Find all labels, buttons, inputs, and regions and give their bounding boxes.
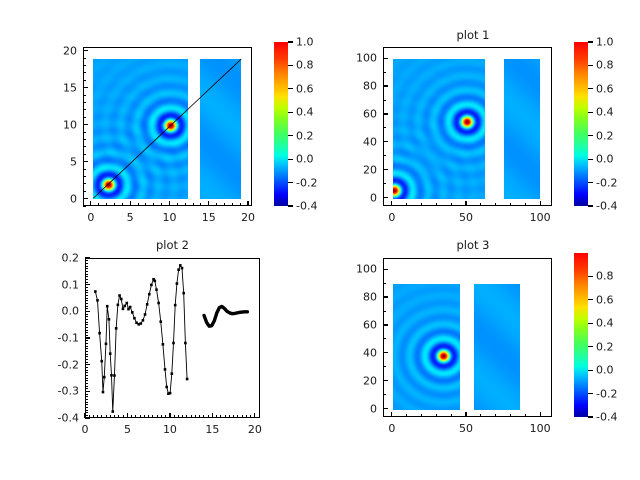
x-minor-tick-mark xyxy=(421,414,422,417)
x-minor-tick-mark xyxy=(93,415,94,418)
y-minor-tick-mark xyxy=(85,300,88,301)
colorbar-tick-label: 0.2 xyxy=(596,129,614,142)
x-tick-label: 0 xyxy=(388,211,395,224)
y-minor-tick-mark xyxy=(85,295,88,296)
y-tick-label: 0.0 xyxy=(37,305,79,318)
y-minor-tick-mark xyxy=(85,306,88,307)
colorbar-tick-label: -0.4 xyxy=(296,200,317,213)
x-minor-tick-mark xyxy=(212,415,213,418)
y-minor-tick-mark xyxy=(85,282,88,283)
x-minor-tick-mark xyxy=(185,203,186,206)
y-tick-label: 80 xyxy=(335,80,377,93)
y-minor-tick-mark xyxy=(85,324,88,325)
y-tick-label: 0.2 xyxy=(37,252,79,265)
image-patch-right xyxy=(474,284,520,410)
x-minor-tick-mark xyxy=(89,415,90,418)
data-point-marker xyxy=(109,352,112,355)
x-minor-tick-mark xyxy=(220,415,221,418)
colorbar-tick-label: 0.6 xyxy=(596,293,614,306)
y-minor-tick-mark xyxy=(83,169,86,170)
x-minor-tick-mark xyxy=(391,414,392,417)
colorbar-tick-label: 0.0 xyxy=(596,153,614,166)
x-minor-tick-mark xyxy=(250,415,251,418)
y-minor-tick-mark xyxy=(85,258,88,259)
x-minor-tick-mark xyxy=(246,415,247,418)
y-minor-tick-mark xyxy=(83,58,86,59)
y-tick-label: 20 xyxy=(335,163,377,176)
x-minor-tick-mark xyxy=(203,415,204,418)
colorbar-tick-mark xyxy=(588,346,593,347)
x-minor-tick-mark xyxy=(97,415,98,418)
y-tick-label: 60 xyxy=(335,318,377,331)
data-point-marker xyxy=(148,293,151,296)
colorbar-tick-label: 1.0 xyxy=(596,36,614,49)
x-minor-tick-mark xyxy=(451,414,452,417)
x-minor-tick-mark xyxy=(254,415,255,418)
data-point-marker xyxy=(139,322,142,325)
x-minor-tick-mark xyxy=(169,203,170,206)
x-minor-tick-mark xyxy=(195,415,196,418)
colorbar-tick-mark xyxy=(588,135,593,136)
colorbar-tick-label: 0.2 xyxy=(596,340,614,353)
data-point-marker xyxy=(100,360,103,363)
y-tick-label: 0 xyxy=(335,402,377,415)
x-minor-tick-mark xyxy=(259,415,260,418)
y-tick-label: 20 xyxy=(335,374,377,387)
y-tick-label: 100 xyxy=(335,263,377,276)
x-minor-tick-mark xyxy=(191,415,192,418)
y-minor-tick-mark xyxy=(85,266,88,267)
colorbar-tick-mark xyxy=(588,323,593,324)
x-minor-tick-mark xyxy=(148,415,149,418)
panel-bottom-left-title: plot 2 xyxy=(85,238,260,252)
y-minor-tick-mark xyxy=(85,404,88,405)
y-minor-tick-mark xyxy=(85,268,88,269)
data-point-marker xyxy=(165,386,168,389)
data-point-marker xyxy=(157,302,160,305)
colorbar-tick-label: -0.2 xyxy=(296,176,317,189)
y-minor-tick-mark xyxy=(383,72,386,73)
data-point-marker xyxy=(131,311,134,314)
colorbar-tick-mark xyxy=(588,112,593,113)
y-minor-tick-mark xyxy=(85,279,88,280)
colorbar-tick-label: -0.4 xyxy=(596,200,617,213)
colorbar-tick-label: 1.0 xyxy=(296,36,314,49)
y-minor-tick-mark xyxy=(85,340,88,341)
y-minor-tick-mark xyxy=(85,335,88,336)
y-minor-tick-mark xyxy=(85,284,88,285)
figure-canvas: 0510152005101520 1.00.80.60.40.20.0-0.2-… xyxy=(0,0,640,480)
y-minor-tick-mark xyxy=(85,290,88,291)
x-minor-tick-mark xyxy=(510,203,511,206)
data-point-marker xyxy=(113,374,116,377)
colorbar-tick-label: 0.4 xyxy=(596,317,614,330)
x-minor-tick-mark xyxy=(224,203,225,206)
colorbar-tick-mark xyxy=(588,65,593,66)
x-minor-tick-mark xyxy=(145,203,146,206)
x-minor-tick-mark xyxy=(122,203,123,206)
y-minor-tick-mark xyxy=(85,327,88,328)
y-minor-tick-mark xyxy=(83,146,86,147)
colorbar-tick-mark xyxy=(588,182,593,183)
x-tick-label: 0 xyxy=(87,211,94,224)
x-minor-tick-mark xyxy=(90,203,91,206)
y-minor-tick-mark xyxy=(85,380,88,381)
x-minor-tick-mark xyxy=(106,203,107,206)
y-minor-tick-mark xyxy=(85,399,88,400)
colorbar-tick-label: -0.4 xyxy=(596,411,617,424)
colorbar-tick-mark xyxy=(588,370,593,371)
y-tick-label: 80 xyxy=(335,291,377,304)
colorbar-tick-mark xyxy=(588,416,593,417)
data-point-marker xyxy=(110,374,113,377)
x-minor-tick-mark xyxy=(186,415,187,418)
y-minor-tick-mark xyxy=(383,366,386,367)
x-minor-tick-mark xyxy=(495,203,496,206)
x-minor-tick-mark xyxy=(85,415,86,418)
x-minor-tick-mark xyxy=(540,414,541,417)
y-minor-tick-mark xyxy=(383,58,386,59)
y-minor-tick-mark xyxy=(383,183,386,184)
y-minor-tick-mark xyxy=(383,283,386,284)
colorbar-tick-label: 0.0 xyxy=(296,153,314,166)
y-minor-tick-mark xyxy=(85,391,88,392)
x-minor-tick-mark xyxy=(123,415,124,418)
x-minor-tick-mark xyxy=(216,415,217,418)
x-minor-tick-mark xyxy=(208,203,209,206)
colorbar-top-right xyxy=(574,42,588,206)
y-minor-tick-mark xyxy=(83,124,86,125)
y-minor-tick-mark xyxy=(83,87,86,88)
colorbar-tick-mark xyxy=(588,88,593,89)
y-minor-tick-mark xyxy=(85,274,88,275)
data-point-marker xyxy=(123,305,126,308)
y-minor-tick-mark xyxy=(83,50,86,51)
data-point-marker xyxy=(120,298,123,301)
x-minor-tick-mark xyxy=(152,415,153,418)
y-tick-label: 60 xyxy=(335,107,377,120)
y-minor-tick-mark xyxy=(83,139,86,140)
y-minor-tick-mark xyxy=(85,351,88,352)
colorbar-tick-mark xyxy=(288,182,293,183)
x-minor-tick-mark xyxy=(406,414,407,417)
y-minor-tick-mark xyxy=(83,132,86,133)
x-tick-label: 100 xyxy=(530,422,551,435)
data-point-marker xyxy=(181,267,184,270)
data-point-marker xyxy=(117,304,120,307)
data-point-marker xyxy=(150,284,153,287)
y-minor-tick-mark xyxy=(83,191,86,192)
y-tick-label: 100 xyxy=(335,52,377,65)
y-minor-tick-mark xyxy=(85,407,88,408)
y-minor-tick-mark xyxy=(83,109,86,110)
y-minor-tick-mark xyxy=(85,396,88,397)
y-minor-tick-mark xyxy=(85,394,88,395)
data-point-marker xyxy=(172,342,175,345)
data-point-marker xyxy=(171,372,174,375)
axes-top-right[interactable] xyxy=(383,47,552,206)
y-minor-tick-mark xyxy=(85,271,88,272)
y-minor-tick-mark xyxy=(83,102,86,103)
x-minor-tick-mark xyxy=(480,414,481,417)
colorbar-tick-label: 0.6 xyxy=(296,82,314,95)
y-minor-tick-mark xyxy=(383,338,386,339)
y-minor-tick-mark xyxy=(85,370,88,371)
colorbar-tick-mark xyxy=(588,205,593,206)
data-point-marker xyxy=(176,282,179,285)
x-minor-tick-mark xyxy=(242,415,243,418)
data-point-marker xyxy=(115,327,118,330)
y-minor-tick-mark xyxy=(83,80,86,81)
y-minor-tick-mark xyxy=(85,346,88,347)
y-minor-tick-mark xyxy=(85,322,88,323)
y-minor-tick-mark xyxy=(85,367,88,368)
y-tick-label: 40 xyxy=(335,135,377,148)
data-point-marker xyxy=(133,317,136,320)
image-patch-left xyxy=(393,284,460,410)
data-point-marker xyxy=(125,302,128,305)
colorbar-tick-mark xyxy=(588,299,593,300)
colorbar-tick-label: 0.8 xyxy=(596,59,614,72)
y-tick-label: -0.2 xyxy=(37,358,79,371)
y-minor-tick-mark xyxy=(83,154,86,155)
axes-bottom-left[interactable] xyxy=(85,258,260,418)
y-minor-tick-mark xyxy=(85,276,88,277)
y-minor-tick-mark xyxy=(83,65,86,66)
x-minor-tick-mark xyxy=(83,203,84,206)
y-minor-tick-mark xyxy=(383,169,386,170)
y-minor-tick-mark xyxy=(85,298,88,299)
colorbar-bottom-right xyxy=(574,253,588,417)
y-minor-tick-mark xyxy=(85,348,88,349)
colorbar-tick-mark xyxy=(288,88,293,89)
x-minor-tick-mark xyxy=(161,203,162,206)
y-minor-tick-mark xyxy=(383,141,386,142)
y-tick-label: 0 xyxy=(335,191,377,204)
data-point-marker xyxy=(162,343,165,346)
x-tick-label: 0 xyxy=(82,423,89,436)
y-tick-label: 5 xyxy=(35,155,77,168)
x-minor-tick-mark xyxy=(131,415,132,418)
data-point-marker xyxy=(159,320,162,323)
data-point-marker xyxy=(122,308,125,311)
x-minor-tick-mark xyxy=(174,415,175,418)
y-minor-tick-mark xyxy=(85,314,88,315)
y-minor-tick-mark xyxy=(85,287,88,288)
x-minor-tick-mark xyxy=(165,415,166,418)
y-minor-tick-mark xyxy=(85,303,88,304)
y-minor-tick-mark xyxy=(383,408,386,409)
x-minor-tick-mark xyxy=(495,414,496,417)
y-minor-tick-mark xyxy=(383,100,386,101)
x-minor-tick-mark xyxy=(525,414,526,417)
colorbar-tick-label: 0.4 xyxy=(596,106,614,119)
x-minor-tick-mark xyxy=(193,203,194,206)
y-minor-tick-mark xyxy=(383,155,386,156)
colorbar-tick-mark xyxy=(288,41,293,42)
y-minor-tick-mark xyxy=(85,316,88,317)
y-minor-tick-mark xyxy=(85,386,88,387)
y-minor-tick-mark xyxy=(383,380,386,381)
data-point-marker xyxy=(155,288,158,291)
x-minor-tick-mark xyxy=(130,203,131,206)
data-point-marker xyxy=(106,305,109,308)
y-minor-tick-mark xyxy=(85,292,88,293)
colorbar-tick-mark xyxy=(588,393,593,394)
x-minor-tick-mark xyxy=(406,203,407,206)
x-tick-label: 50 xyxy=(459,422,473,435)
x-tick-label: 5 xyxy=(127,211,134,224)
x-minor-tick-mark xyxy=(466,414,467,417)
y-minor-tick-mark xyxy=(83,72,86,73)
colorbar-tick-label: -0.2 xyxy=(596,176,617,189)
diagonal-overlay-line xyxy=(84,48,252,206)
y-minor-tick-mark xyxy=(83,161,86,162)
colorbar-tick-mark xyxy=(588,276,593,277)
y-minor-tick-mark xyxy=(383,311,386,312)
y-tick-label: 0 xyxy=(35,192,77,205)
image-patch-right xyxy=(504,59,540,199)
colorbar-tick-mark xyxy=(288,112,293,113)
data-point-marker xyxy=(105,343,108,346)
data-point-marker xyxy=(144,313,147,316)
y-minor-tick-mark xyxy=(85,319,88,320)
x-minor-tick-mark xyxy=(240,203,241,206)
x-minor-tick-mark xyxy=(237,415,238,418)
x-minor-tick-mark xyxy=(161,415,162,418)
x-minor-tick-mark xyxy=(229,415,230,418)
data-point-marker xyxy=(169,392,172,395)
x-minor-tick-mark xyxy=(153,203,154,206)
y-minor-tick-mark xyxy=(383,127,386,128)
x-minor-tick-mark xyxy=(106,415,107,418)
data-point-marker xyxy=(177,268,180,271)
image-patch-left xyxy=(393,59,485,199)
data-point-marker xyxy=(184,342,187,345)
data-point-marker xyxy=(96,299,99,302)
y-minor-tick-mark xyxy=(383,297,386,298)
line-chart-series xyxy=(86,259,260,418)
x-minor-tick-mark xyxy=(135,415,136,418)
y-minor-tick-mark xyxy=(383,197,386,198)
colorbar-top-left xyxy=(274,42,288,206)
y-tick-label: -0.1 xyxy=(37,332,79,345)
colorbar-tick-mark xyxy=(588,41,593,42)
colorbar-tick-label: 0.8 xyxy=(596,270,614,283)
y-tick-label: -0.3 xyxy=(37,385,79,398)
x-minor-tick-mark xyxy=(157,415,158,418)
panel-bottom-right-title: plot 3 xyxy=(383,238,563,252)
x-minor-tick-mark xyxy=(98,203,99,206)
series-segment-1 xyxy=(94,264,188,413)
x-minor-tick-mark xyxy=(178,415,179,418)
y-tick-label: 10 xyxy=(35,118,77,131)
x-tick-label: 50 xyxy=(459,211,473,224)
data-point-marker xyxy=(154,280,157,283)
x-minor-tick-mark xyxy=(140,415,141,418)
y-minor-tick-mark xyxy=(83,198,86,199)
y-tick-label: 0.1 xyxy=(37,278,79,291)
x-minor-tick-mark xyxy=(138,203,139,206)
colorbar-tick-mark xyxy=(588,159,593,160)
x-tick-label: 10 xyxy=(163,423,177,436)
y-minor-tick-mark xyxy=(85,402,88,403)
y-minor-tick-mark xyxy=(85,364,88,365)
data-point-marker xyxy=(103,376,106,379)
x-tick-label: 15 xyxy=(205,423,219,436)
axes-bottom-right[interactable] xyxy=(383,258,552,417)
y-minor-tick-mark xyxy=(83,95,86,96)
x-minor-tick-mark xyxy=(232,203,233,206)
data-point-marker xyxy=(146,303,149,306)
x-minor-tick-mark xyxy=(540,203,541,206)
data-point-marker xyxy=(94,290,97,293)
x-tick-label: 20 xyxy=(241,211,255,224)
x-tick-label: 15 xyxy=(202,211,216,224)
y-minor-tick-mark xyxy=(383,86,386,87)
y-minor-tick-mark xyxy=(383,352,386,353)
y-minor-tick-mark xyxy=(383,113,386,114)
colorbar-tick-mark xyxy=(288,135,293,136)
y-minor-tick-mark xyxy=(85,343,88,344)
x-minor-tick-mark xyxy=(114,203,115,206)
y-minor-tick-mark xyxy=(85,362,88,363)
y-tick-label: 15 xyxy=(35,81,77,94)
x-minor-tick-mark xyxy=(466,203,467,206)
y-minor-tick-mark xyxy=(383,394,386,395)
x-minor-tick-mark xyxy=(200,203,201,206)
x-minor-tick-mark xyxy=(436,414,437,417)
x-minor-tick-mark xyxy=(451,203,452,206)
y-minor-tick-mark xyxy=(83,117,86,118)
x-minor-tick-mark xyxy=(118,415,119,418)
colorbar-tick-label: 0.0 xyxy=(596,364,614,377)
colorbar-tick-label: 0.8 xyxy=(296,59,314,72)
x-tick-label: 0 xyxy=(388,422,395,435)
data-point-marker xyxy=(129,306,132,309)
y-minor-tick-mark xyxy=(85,383,88,384)
x-minor-tick-mark xyxy=(510,414,511,417)
colorbar-tick-label: 0.6 xyxy=(596,82,614,95)
data-point-marker xyxy=(142,319,145,322)
y-minor-tick-mark xyxy=(85,260,88,261)
y-minor-tick-mark xyxy=(383,269,386,270)
y-minor-tick-mark xyxy=(85,388,88,389)
y-minor-tick-mark xyxy=(85,330,88,331)
x-minor-tick-mark xyxy=(391,203,392,206)
colorbar-tick-label: 0.2 xyxy=(296,129,314,142)
y-minor-tick-mark xyxy=(85,375,88,376)
x-minor-tick-mark xyxy=(144,415,145,418)
colorbar-tick-label: 0.4 xyxy=(296,106,314,119)
x-tick-label: 10 xyxy=(162,211,176,224)
data-point-marker xyxy=(111,410,114,413)
axes-top-left[interactable] xyxy=(83,47,252,206)
x-minor-tick-mark xyxy=(208,415,209,418)
x-minor-tick-mark xyxy=(110,415,111,418)
x-minor-tick-mark xyxy=(233,415,234,418)
y-minor-tick-mark xyxy=(85,359,88,360)
series-segment-2 xyxy=(204,306,247,326)
x-minor-tick-mark xyxy=(182,415,183,418)
y-tick-label: 40 xyxy=(335,346,377,359)
x-tick-label: 20 xyxy=(248,423,262,436)
x-minor-tick-mark xyxy=(480,203,481,206)
y-minor-tick-mark xyxy=(383,324,386,325)
data-point-marker xyxy=(186,378,189,381)
x-minor-tick-mark xyxy=(177,203,178,206)
y-minor-tick-mark xyxy=(85,308,88,309)
